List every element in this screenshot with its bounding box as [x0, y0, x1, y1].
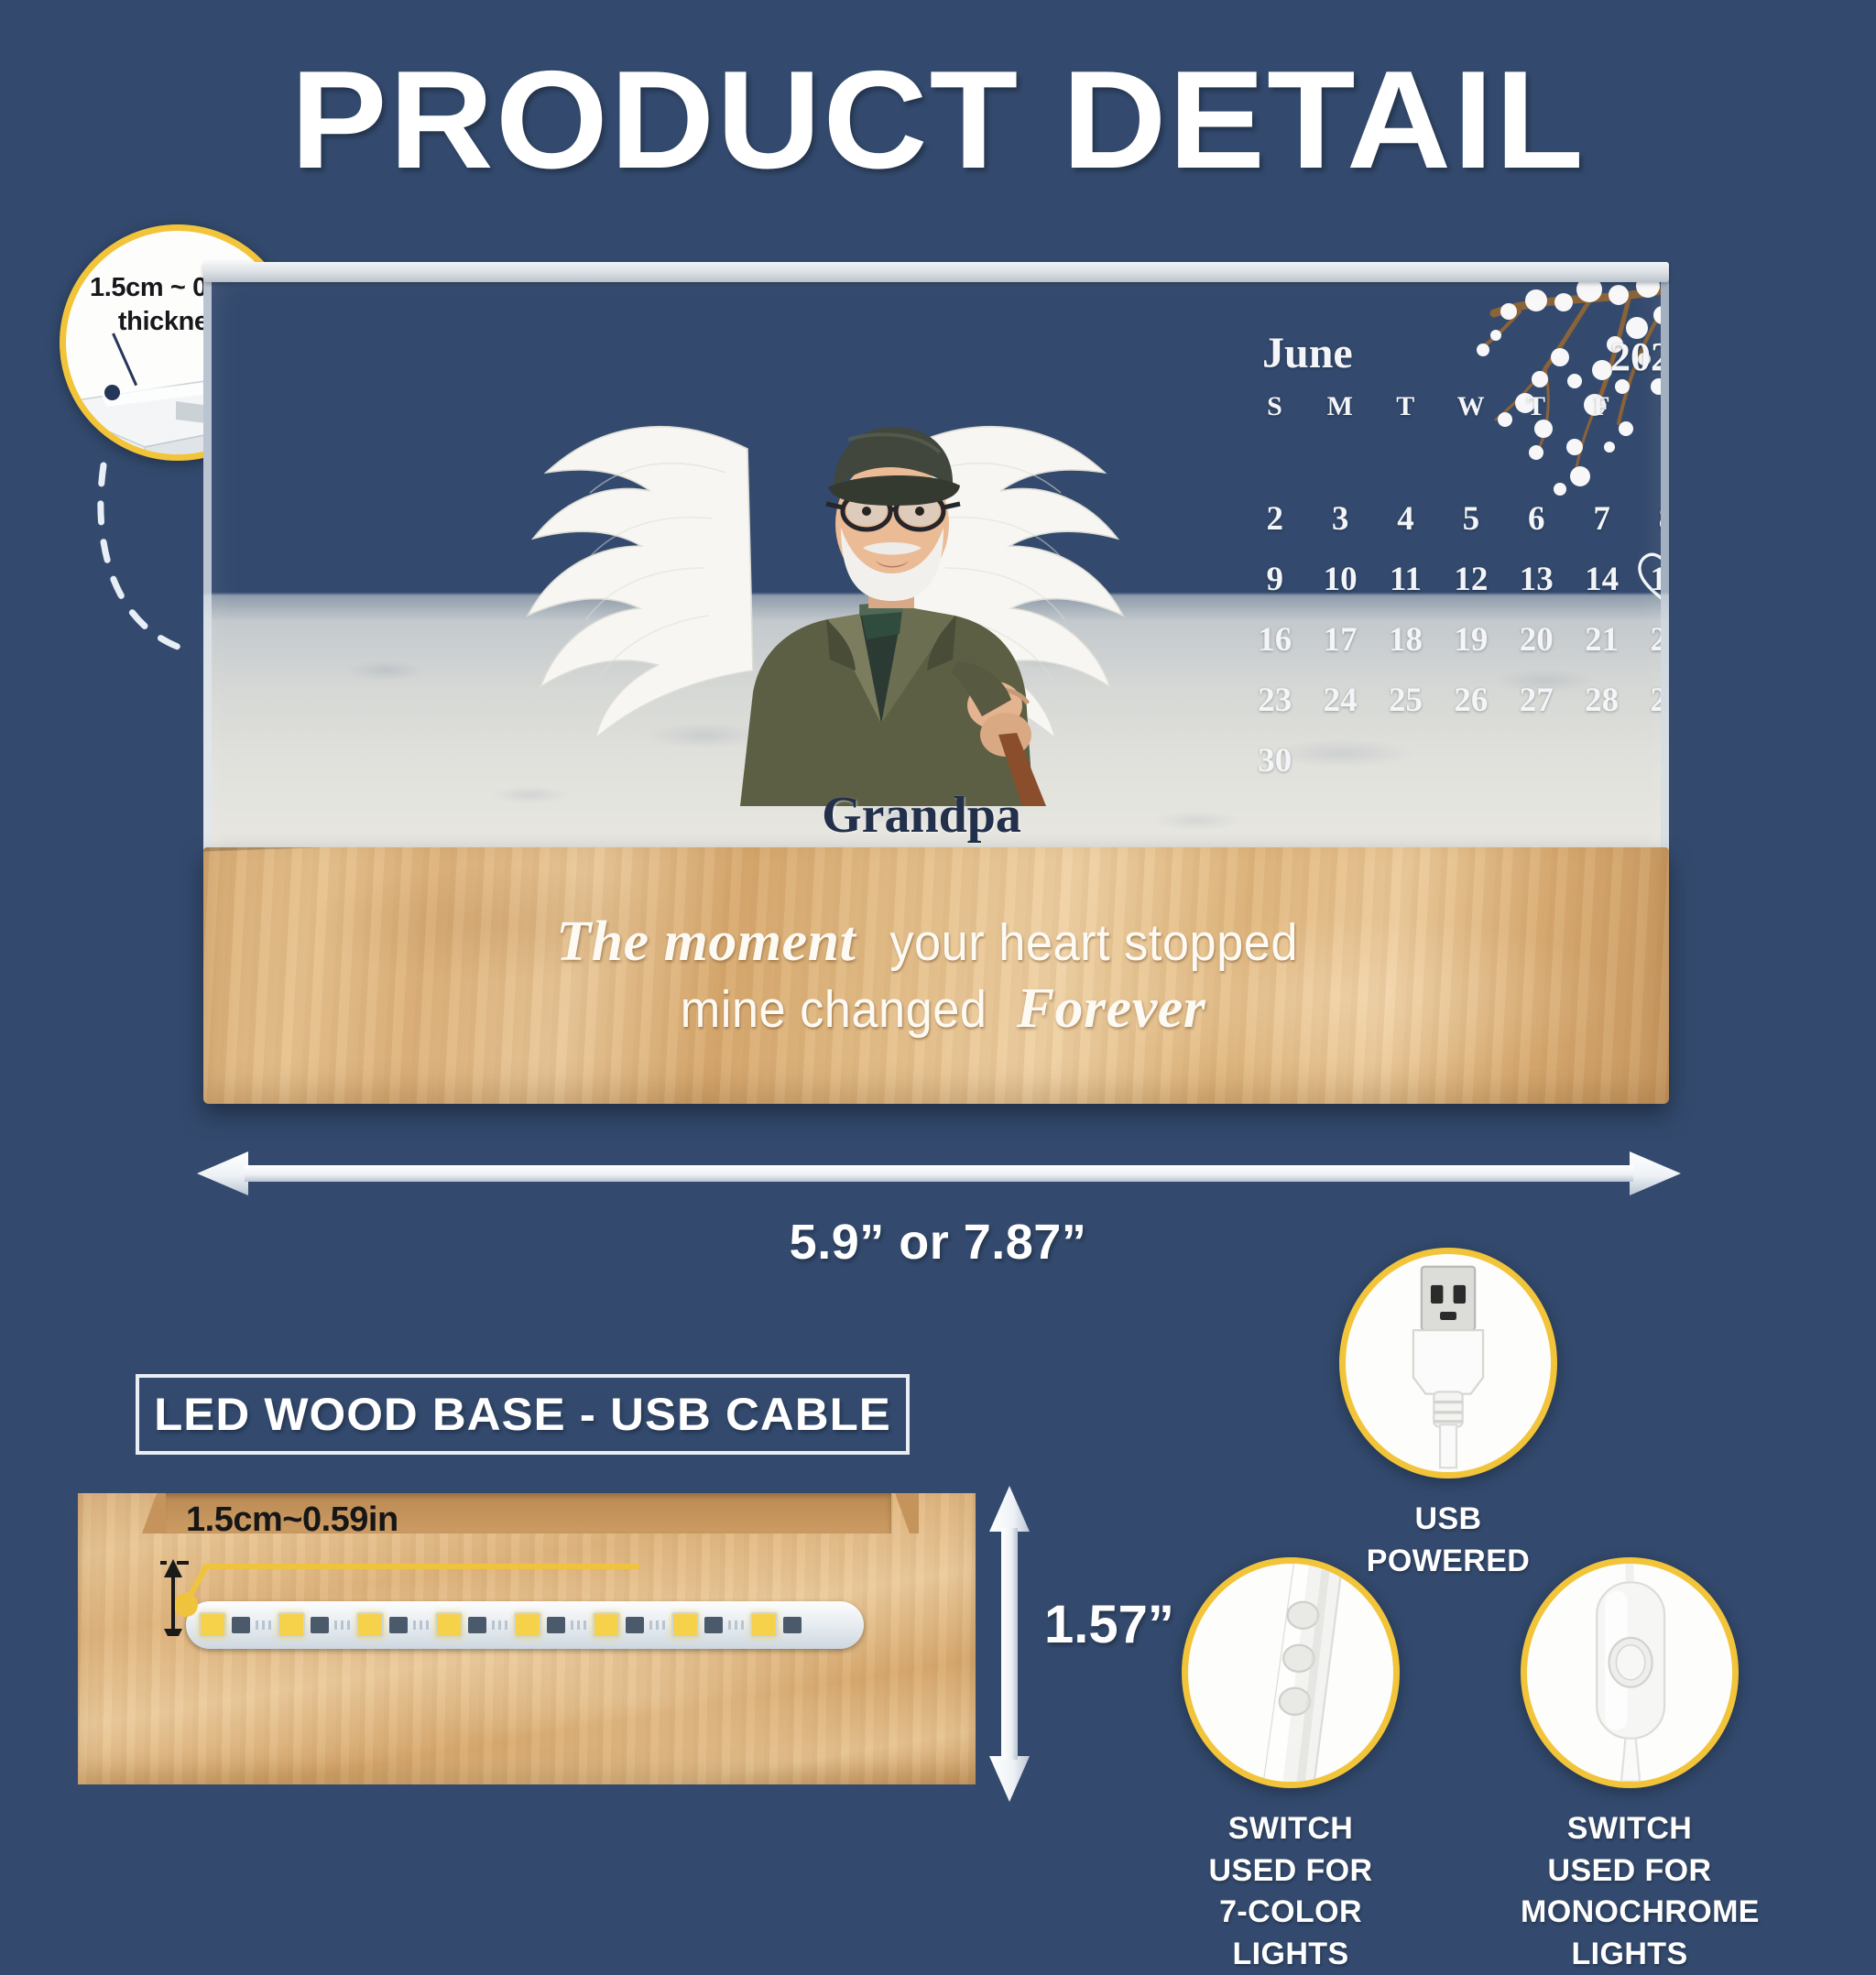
calendar-day: 11 — [1373, 550, 1438, 610]
calendar-day: 17 — [1307, 610, 1372, 671]
calendar-day-empty — [1373, 429, 1438, 489]
calendar-grid: SMTWTFS123456789101112131415161718192021… — [1242, 385, 1669, 791]
feature-icon-circle — [1521, 1557, 1739, 1788]
calendar-weekday-row: SMTWTFS — [1242, 385, 1669, 429]
calendar-day: 4 — [1373, 489, 1438, 550]
feature-caption: SWITCH USED FOR 7-COLOR LIGHTS — [1182, 1808, 1400, 1975]
calendar-day: 7 — [1569, 489, 1634, 550]
angel-wings-illustration — [445, 293, 1205, 806]
calendar-weekday-header: W — [1438, 385, 1503, 429]
calendar-week-row: 1 — [1242, 429, 1669, 489]
calendar-day: 3 — [1307, 489, 1372, 550]
badge-pointer-dot — [104, 385, 120, 400]
height-dimension-label: 1.57” — [1044, 1594, 1174, 1655]
calendar-day-empty — [1634, 731, 1669, 791]
calendar-week-row: 2345678 — [1242, 489, 1669, 550]
calendar-day: 21 — [1569, 610, 1634, 671]
quote-plain-2: mine changed — [680, 979, 987, 1040]
calendar-day: 22 — [1634, 610, 1669, 671]
calendar-month: June — [1262, 328, 1353, 378]
three-button-switch-icon — [1188, 1564, 1393, 1782]
calendar-day-empty — [1307, 429, 1372, 489]
calendar-weekday-header: M — [1307, 385, 1372, 429]
calendar-weekday-header: S — [1634, 385, 1669, 429]
calendar-day: 29 — [1634, 671, 1669, 731]
acrylic-plaque: Grandpa June 2024 SMTWTFS123456789101112… — [203, 275, 1669, 852]
led-chip — [750, 1612, 778, 1638]
led-section-header-label: LED WOOD BASE - USB CABLE — [154, 1388, 891, 1441]
led-notch-left-bevel — [135, 1493, 166, 1533]
quote-script-1: The moment — [556, 910, 856, 975]
feature-caption: SWITCH USED FOR MONOCHROME LIGHTS — [1521, 1808, 1739, 1975]
calendar-day: 14 — [1569, 550, 1634, 610]
personalized-name: Grandpa — [720, 786, 1123, 845]
calendar-week-row: 9101112131415 — [1242, 550, 1669, 610]
calendar-day-empty — [1504, 731, 1569, 791]
calendar-day-empty — [1438, 429, 1503, 489]
calendar-day: 19 — [1438, 610, 1503, 671]
calendar-day: 28 — [1569, 671, 1634, 731]
calendar-week-row: 30 — [1242, 731, 1669, 791]
led-thickness-label: 1.5cm~0.59in — [186, 1500, 398, 1540]
calendar-day: 8 — [1634, 489, 1669, 550]
feature-icon-circle — [1182, 1557, 1400, 1788]
calendar-day: 25 — [1373, 671, 1438, 731]
feature-icon-circle — [1339, 1248, 1557, 1479]
led-notch-right-bevel — [888, 1493, 919, 1533]
led-base-cross-section: 1.5cm~0.59in — [78, 1493, 976, 1805]
calendar-week-row: 23242526272829 — [1242, 671, 1669, 731]
calendar-day: 13 — [1504, 550, 1569, 610]
calendar-weekday-header: T — [1373, 385, 1438, 429]
calendar-day: 1 — [1634, 429, 1669, 489]
width-dimension-arrow — [197, 1150, 1681, 1197]
calendar-day-empty — [1242, 429, 1307, 489]
height-dimension-arrow — [982, 1486, 1037, 1802]
calendar-weekday-header: T — [1504, 385, 1569, 429]
calendar-day: 9 — [1242, 550, 1307, 610]
led-section-header: LED WOOD BASE - USB CABLE — [136, 1374, 910, 1455]
quote-script-2: Forever — [1017, 977, 1206, 1042]
led-thickness-pointer — [160, 1535, 673, 1636]
led-resistor — [704, 1617, 723, 1633]
calendar-year: 2024 — [1610, 333, 1669, 380]
calendar-day: 23 — [1242, 671, 1307, 731]
calendar-day: 2 — [1242, 489, 1307, 550]
calendar-weekday-header: S — [1242, 385, 1307, 429]
calendar-day: 6 — [1504, 489, 1569, 550]
feature-monochrome-switch: SWITCH USED FOR MONOCHROME LIGHTS — [1521, 1557, 1739, 1975]
calendar-day-empty — [1307, 731, 1372, 791]
quote-line-1: The moment your heart stopped — [556, 910, 1315, 975]
feature-usb-powered: USB POWERED — [1339, 1248, 1557, 1582]
calendar-day: 26 — [1438, 671, 1503, 731]
portrait-with-wings: Grandpa — [445, 293, 1205, 806]
led-trace — [728, 1620, 745, 1630]
calendar-day: 10 — [1307, 550, 1372, 610]
calendar-day: 20 — [1504, 610, 1569, 671]
usb-connector-icon — [1346, 1254, 1551, 1472]
calendar-day-highlighted: 15 — [1634, 550, 1669, 610]
calendar-day-empty — [1569, 731, 1634, 791]
feature-7-color-switch: SWITCH USED FOR 7-COLOR LIGHTS — [1182, 1557, 1400, 1975]
led-wood-base: The moment your heart stopped mine chang… — [203, 847, 1669, 1104]
page-title: PRODUCT DETAIL — [0, 48, 1876, 194]
acrylic-top-edge — [203, 262, 1669, 282]
calendar-day-empty — [1373, 731, 1438, 791]
quote-plain-1: your heart stopped — [890, 912, 1299, 973]
calendar-day-label: 15 — [1651, 561, 1669, 598]
calendar-day: 12 — [1438, 550, 1503, 610]
calendar-day: 16 — [1242, 610, 1307, 671]
single-button-switch-icon — [1527, 1564, 1732, 1782]
calendar-day-empty — [1438, 731, 1503, 791]
calendar-day: 27 — [1504, 671, 1569, 731]
memorial-quote: The moment your heart stopped mine chang… — [203, 847, 1669, 1104]
width-dimension-label: 5.9” or 7.87” — [0, 1214, 1876, 1271]
calendar-day-empty — [1504, 429, 1569, 489]
led-chip — [671, 1612, 699, 1638]
calendar-day: 30 — [1242, 731, 1307, 791]
calendar-day: 5 — [1438, 489, 1503, 550]
led-resistor — [783, 1617, 802, 1633]
calendar-day: 24 — [1307, 671, 1372, 731]
quote-line-2: mine changed Forever — [667, 977, 1206, 1042]
calendar-weekday-header: F — [1569, 385, 1634, 429]
calendar-week-row: 16171819202122 — [1242, 610, 1669, 671]
calendar-day: 18 — [1373, 610, 1438, 671]
calendar-day-empty — [1569, 429, 1634, 489]
